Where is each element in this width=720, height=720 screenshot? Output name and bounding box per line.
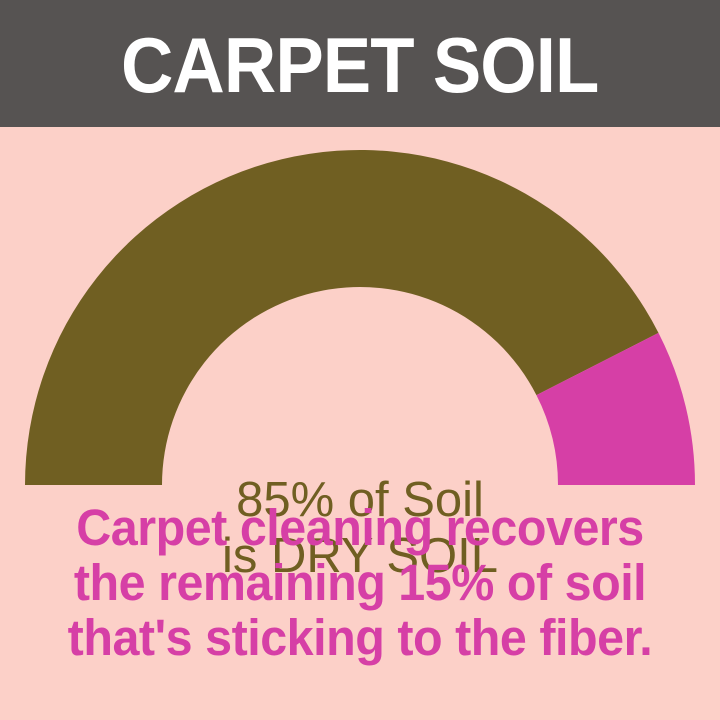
infographic-canvas: CARPET SOIL 85% of Soil is DRY SOIL Carp… — [0, 0, 720, 720]
caption-line-2: the remaining 15% of soil — [18, 555, 702, 610]
header-band: CARPET SOIL — [0, 0, 720, 127]
page-title: CARPET SOIL — [121, 26, 598, 104]
caption-line-1: Carpet cleaning recovers — [18, 500, 702, 555]
caption-line-3: that's sticking to the fiber. — [18, 610, 702, 665]
caption-text: Carpet cleaning recovers the remaining 1… — [0, 500, 720, 665]
soil-gauge: 85% of Soil is DRY SOIL — [0, 127, 720, 497]
gauge-svg — [0, 127, 720, 497]
